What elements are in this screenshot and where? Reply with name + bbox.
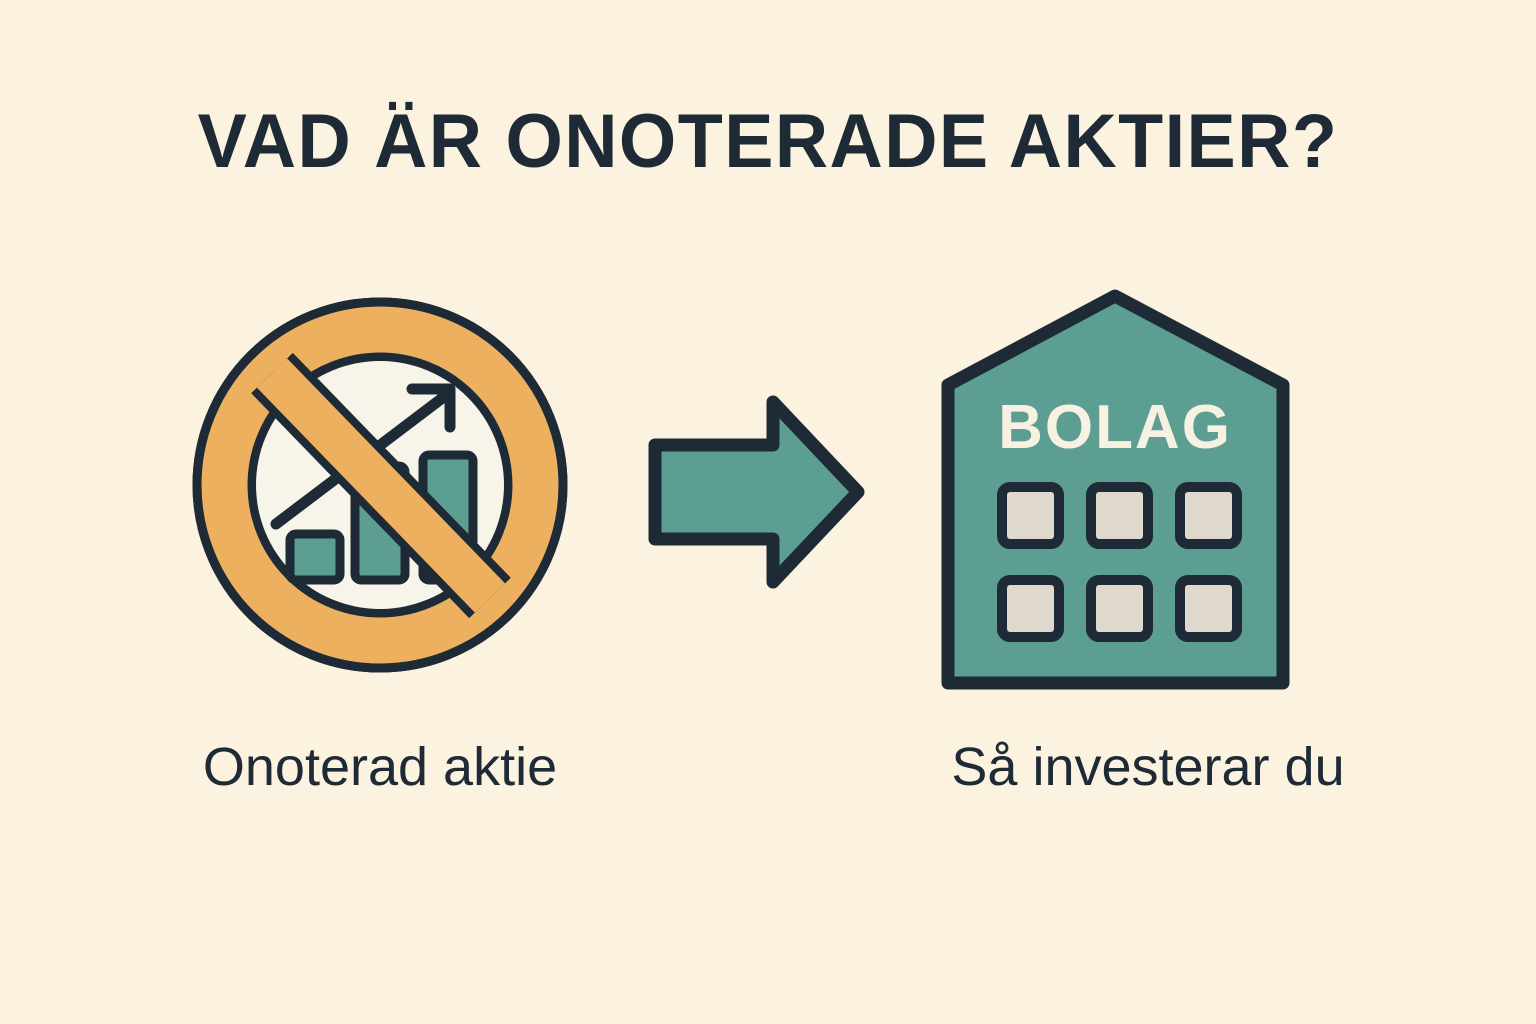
slash-band [272, 373, 490, 598]
building-window [1180, 580, 1237, 637]
building-window [1091, 487, 1148, 544]
building-label: BOLAG [998, 393, 1232, 462]
prohibition-ring-inner-edge [252, 357, 508, 613]
arrow-right-icon [655, 402, 858, 582]
chart-bar-1 [290, 534, 340, 580]
building-window [1091, 580, 1148, 637]
page-title: VAD ÄR ONOTERADE AKTIER? [23, 104, 1513, 180]
no-listed-stock-icon [197, 302, 563, 668]
arrow-shape [655, 402, 858, 582]
chart-bar-3 [423, 455, 473, 580]
right-panel-caption: Så investerar du [760, 740, 1536, 794]
building-window [1002, 580, 1059, 637]
bar-chart-group [276, 389, 473, 580]
prohibition-inner-disc [256, 361, 504, 609]
trend-arrowhead [412, 389, 450, 427]
prohibition-slash [272, 373, 490, 598]
left-panel-caption: Onoterad aktie [0, 740, 760, 794]
trend-line [276, 396, 445, 524]
building-body [948, 296, 1283, 683]
infographic-canvas: VAD ÄR ONOTERADE AKTIER? Onoterad aktie … [0, 0, 1536, 1024]
building-window [1180, 487, 1237, 544]
building-window [1002, 487, 1059, 544]
prohibition-ring-outer-edge [197, 302, 563, 668]
prohibition-ring-outer-edge-top [197, 302, 563, 668]
prohibition-ring-band [225, 330, 536, 641]
company-building-icon: BOLAG [948, 296, 1283, 683]
chart-bar-2 [355, 466, 405, 580]
slash-outline [272, 373, 490, 598]
